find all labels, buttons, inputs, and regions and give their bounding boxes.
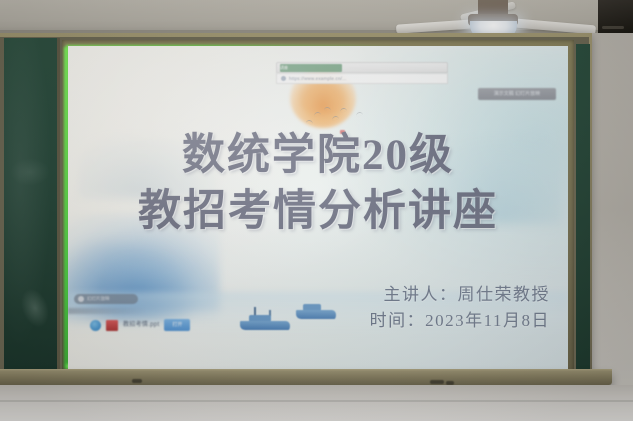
- subtitle-date: 时间：2023年11月8日: [250, 308, 550, 334]
- presentation-slide[interactable]: 讲座 https://www.example.cn/... 演示文稿 幻灯片放映…: [68, 46, 568, 370]
- right-wall: [592, 33, 633, 385]
- url-text: https://www.example.cn/...: [289, 73, 346, 84]
- browser-tab-label: 讲座: [280, 64, 342, 72]
- flag-icon[interactable]: [106, 320, 118, 331]
- slideshow-toolbar-chip[interactable]: 演示文稿 幻灯片放映: [478, 88, 556, 100]
- media-pill-label: 幻灯片放映: [87, 294, 110, 304]
- wall-seam: [0, 400, 633, 402]
- taskbar-app-label: 教招考情.ppt: [123, 320, 159, 331]
- browser-tab-bar[interactable]: 讲座: [276, 62, 448, 73]
- tray-object: [132, 379, 142, 383]
- browser-url-bar[interactable]: https://www.example.cn/...: [276, 73, 448, 84]
- open-button-label: 打开: [172, 319, 182, 331]
- title-line-1: 数统学院20级: [68, 128, 568, 184]
- lower-wall: [0, 385, 633, 421]
- toolbar-chip-label: 演示文稿 幻灯片放映: [494, 88, 540, 100]
- browser-icon[interactable]: [90, 320, 101, 331]
- taskbar[interactable]: 教招考情.ppt 打开: [90, 314, 230, 336]
- media-control-pill[interactable]: 幻灯片放映: [74, 294, 138, 304]
- projection-screen[interactable]: 讲座 https://www.example.cn/... 演示文稿 幻灯片放映…: [68, 46, 568, 370]
- chalk-tray: [0, 371, 612, 385]
- subtitle-speaker: 主讲人：周仕荣教授: [250, 282, 550, 308]
- classroom-photo: 讲座 https://www.example.cn/... 演示文稿 幻灯片放映…: [0, 0, 633, 421]
- tray-object: [430, 380, 444, 384]
- browser-tab[interactable]: 讲座: [280, 64, 342, 72]
- site-info-icon[interactable]: [281, 76, 286, 81]
- slide-subtitle: 主讲人：周仕荣教授 时间：2023年11月8日: [250, 282, 550, 334]
- chalk-smudge: [16, 285, 54, 331]
- green-chalkboard-right: [576, 44, 590, 374]
- title-line-2: 教招考情分析讲座: [68, 184, 568, 240]
- play-icon[interactable]: [78, 296, 84, 302]
- slide-title: 数统学院20级 教招考情分析讲座: [68, 128, 568, 240]
- open-button[interactable]: 打开: [164, 319, 190, 331]
- chalk-smudge: [10, 158, 50, 186]
- green-chalkboard-left: [4, 38, 60, 379]
